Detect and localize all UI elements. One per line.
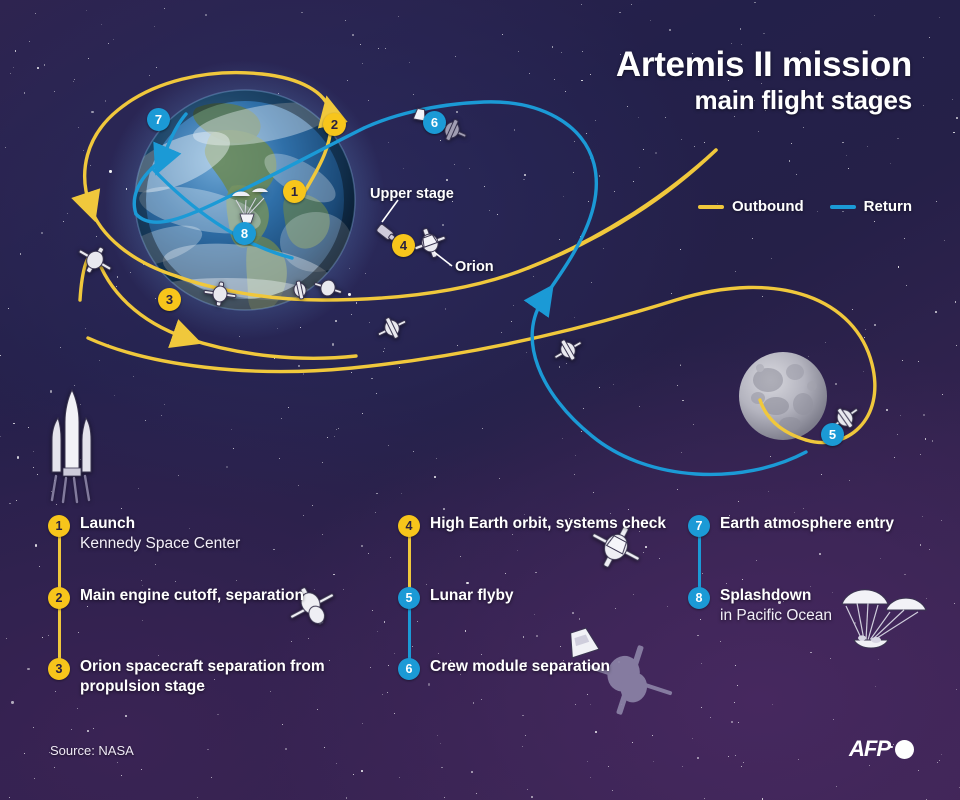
step-sub-8: in Pacific Ocean [720, 606, 832, 626]
orbit-badge-8[interactable]: 8 [233, 222, 256, 245]
orbit-badge-6[interactable]: 6 [423, 111, 446, 134]
path-legend: Outbound Return [698, 198, 912, 215]
step-item-4[interactable]: 4 High Earth orbit, systems check [398, 514, 666, 537]
step-title-2: Main engine cutoff, separation [80, 586, 304, 606]
orbit-badge-3[interactable]: 3 [158, 288, 181, 311]
step-text-1: Launch Kennedy Space Center [80, 514, 240, 554]
step-item-5[interactable]: 5 Lunar flyby [398, 586, 514, 609]
step-text-5: Lunar flyby [430, 586, 514, 609]
title-block: Artemis II mission main flight stages [616, 46, 912, 116]
step-badge-8: 8 [688, 587, 710, 609]
step-text-6: Crew module separation [430, 657, 610, 680]
step-title-1: Launch [80, 514, 240, 534]
afp-dot-icon [895, 740, 914, 759]
sls-rocket-icon [52, 390, 91, 502]
step-item-3[interactable]: 3 Orion spacecraft separation from propu… [48, 657, 378, 697]
afp-logo: AFP [849, 736, 914, 762]
step-badge-3: 3 [48, 658, 70, 680]
legend-return-label: Return [864, 198, 912, 215]
page-title: Artemis II mission [616, 46, 912, 84]
step-text-2: Main engine cutoff, separation [80, 586, 304, 609]
step-title-3: Orion spacecraft separation from propuls… [80, 657, 378, 697]
page-subtitle: main flight stages [616, 86, 912, 116]
step-item-1[interactable]: 1 Launch Kennedy Space Center [48, 514, 240, 554]
afp-wordmark: AFP [849, 736, 890, 762]
step-badge-6: 6 [398, 658, 420, 680]
orbit-badge-7[interactable]: 7 [147, 108, 170, 131]
legend-outbound: Outbound [698, 198, 804, 215]
legend-return: Return [830, 198, 912, 215]
step-badge-7: 7 [688, 515, 710, 537]
step-badge-1: 1 [48, 515, 70, 537]
orbit-badge-2[interactable]: 2 [323, 113, 346, 136]
return-swatch [830, 205, 856, 209]
step-text-4: High Earth orbit, systems check [430, 514, 666, 537]
step-title-6: Crew module separation [430, 657, 610, 677]
step-item-2[interactable]: 2 Main engine cutoff, separation [48, 586, 304, 609]
step-text-7: Earth atmosphere entry [720, 514, 894, 537]
moon [739, 352, 827, 440]
step-title-4: High Earth orbit, systems check [430, 514, 666, 534]
step-title-5: Lunar flyby [430, 586, 514, 606]
step-sub-1: Kennedy Space Center [80, 534, 240, 554]
infographic-canvas: Artemis II mission main flight stages Ou… [0, 0, 960, 800]
step-text-3: Orion spacecraft separation from propuls… [80, 657, 378, 697]
step-item-8[interactable]: 8 Splashdown in Pacific Ocean [688, 586, 832, 626]
upper-stage-label: Upper stage [370, 186, 454, 202]
orbit-badge-5[interactable]: 5 [821, 423, 844, 446]
outbound-swatch [698, 205, 724, 209]
orbit-badge-1[interactable]: 1 [283, 180, 306, 203]
step-item-7[interactable]: 7 Earth atmosphere entry [688, 514, 894, 537]
orbit-badge-4[interactable]: 4 [392, 234, 415, 257]
step-badge-5: 5 [398, 587, 420, 609]
step-title-7: Earth atmosphere entry [720, 514, 894, 534]
steps-legend: 1 Launch Kennedy Space Center 2 Main eng… [0, 500, 960, 730]
step-badge-2: 2 [48, 587, 70, 609]
source-credit: Source: NASA [50, 743, 134, 758]
step-title-8: Splashdown [720, 586, 832, 606]
step-badge-4: 4 [398, 515, 420, 537]
step-text-8: Splashdown in Pacific Ocean [720, 586, 832, 626]
legend-outbound-label: Outbound [732, 198, 804, 215]
orion-label: Orion [455, 259, 494, 275]
step-item-6[interactable]: 6 Crew module separation [398, 657, 610, 680]
